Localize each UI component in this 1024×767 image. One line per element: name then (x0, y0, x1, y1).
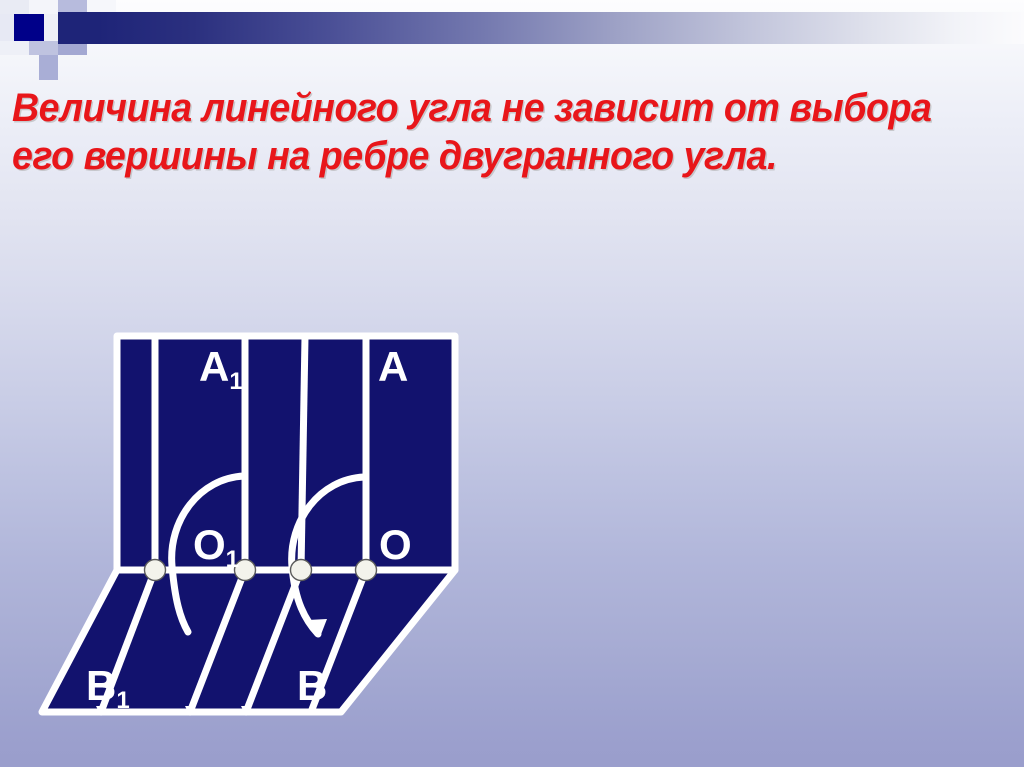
label-B1: B1 (86, 662, 130, 714)
arrow-head-O (308, 619, 327, 637)
label-O1-sub: 1 (226, 546, 239, 573)
ray-O1L-B (101, 570, 155, 712)
label-A1-sub: 1 (229, 368, 242, 395)
square-pale-2 (29, 0, 58, 14)
label-O1: O1 (193, 521, 239, 573)
label-O1-letter: O (193, 521, 226, 568)
ray-OL-B (246, 570, 301, 712)
figure-labels: A1 A O1 O B1 B (86, 343, 412, 714)
label-O: O (379, 521, 412, 568)
vertex-dot-1 (145, 560, 166, 581)
vertical-rays (155, 337, 366, 570)
marker-b-3 (241, 706, 252, 716)
horizontal-plane (42, 570, 455, 712)
label-B: B (297, 662, 327, 709)
square-mid-5 (29, 41, 58, 55)
label-B1-sub: 1 (116, 687, 129, 714)
vertex-dot-4 (356, 560, 377, 581)
header-decoration (0, 0, 1024, 62)
vertex-dot-3 (291, 560, 312, 581)
bottom-edge-markers (96, 706, 252, 716)
square-pale-3 (0, 41, 29, 55)
square-mid-2 (44, 14, 58, 41)
vertical-plane (117, 336, 455, 570)
label-B1-letter: B (86, 662, 116, 709)
ray-OL-A (301, 337, 305, 570)
marker-b-1 (96, 706, 107, 716)
label-A: A (378, 343, 408, 390)
square-light-2 (0, 14, 14, 41)
slide-title: Величина линейного угла не зависит от вы… (12, 84, 952, 180)
edge-vertex-dots (145, 560, 377, 581)
square-mid-7 (39, 55, 58, 80)
vertex-dot-2 (235, 560, 256, 581)
linear-angle-arcs (172, 476, 364, 637)
horizontal-rays (101, 570, 366, 712)
marker-b-2 (185, 706, 196, 716)
presentation-slide: Величина линейного угла не зависит от вы… (0, 0, 1024, 767)
label-A1: A1 (199, 343, 243, 395)
ray-O1-B1 (190, 570, 245, 712)
ray-O-B (311, 570, 366, 712)
header-gradient-bar (58, 12, 1024, 44)
arc-angle-O (292, 477, 364, 634)
label-A1-letter: A (199, 343, 229, 390)
square-dark-navy (14, 14, 44, 41)
arc-angle-O1 (172, 476, 244, 632)
